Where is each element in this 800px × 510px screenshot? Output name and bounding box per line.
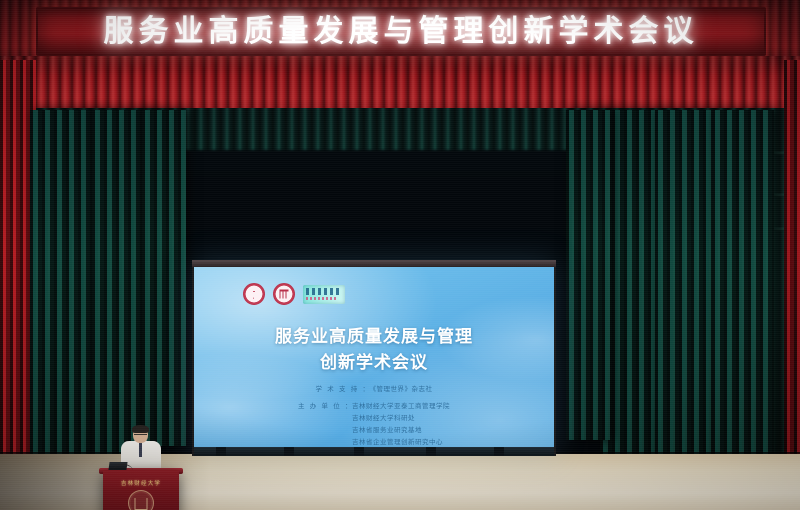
speaker-tie (139, 443, 142, 457)
academic-support-value: 《管理世界》杂志社 (370, 383, 433, 395)
speaker-glasses-icon (134, 434, 147, 437)
university-seal-1-icon (243, 283, 265, 305)
organizers-list: 吉林财经大学亚泰工商管理学院 吉林财经大学科研处 吉林省服务业研究基地 吉林省企… (352, 400, 450, 447)
podium-and-speaker: 吉林财经大学 (95, 424, 187, 510)
slide-logo-row (243, 283, 345, 305)
slide-credits: 学术支持： 《管理世界》杂志社 主办单位： 吉林财经大学亚泰工商管理学院 吉林财… (194, 383, 554, 447)
projection-screen: 服务业高质量发展与管理 创新学术会议 学术支持： 《管理世界》杂志社 主办单位：… (194, 267, 554, 447)
organizer-item: 吉林省企业管理创新研究中心 (352, 436, 450, 447)
green-curtain-leg-left-2 (92, 110, 148, 472)
conference-hall-photo: 服务业高质量发展与管理创新学术会议 服务业高质量发展与管理 创新学术会议 学术支… (0, 0, 800, 510)
organizer-item: 吉林财经大学科研处 (352, 412, 450, 424)
slide-title: 服务业高质量发展与管理 创新学术会议 (194, 325, 554, 376)
academic-support-label: 学术支持： (316, 383, 370, 395)
university-seal-2-icon (273, 283, 295, 305)
journal-wordmark-logo-icon (303, 285, 345, 304)
podium-label: 吉林财经大学 (103, 479, 179, 487)
academic-support-row: 学术支持： 《管理世界》杂志社 (194, 383, 554, 395)
organizers-row: 主办单位： 吉林财经大学亚泰工商管理学院 吉林财经大学科研处 吉林省服务业研究基… (194, 400, 554, 447)
green-curtain-leg-right-4 (566, 110, 610, 440)
slide-title-line-2: 创新学术会议 (194, 351, 554, 377)
conference-banner-text: 服务业高质量发展与管理创新学术会议 (104, 17, 699, 47)
organizer-item: 吉林省服务业研究基地 (352, 424, 450, 436)
screen-bottom-bezel (194, 447, 554, 456)
podium: 吉林财经大学 (103, 470, 179, 510)
green-curtain-leg-right-3 (712, 110, 774, 482)
slide-title-line-1: 服务业高质量发展与管理 (194, 325, 554, 351)
red-side-curtain-right (784, 60, 800, 460)
green-curtain-leg-right-2 (655, 110, 715, 472)
organizer-item: 吉林财经大学亚泰工商管理学院 (352, 400, 450, 412)
speaker-hair (132, 425, 149, 433)
screen-top-bezel (192, 260, 556, 267)
organizers-label: 主办单位： (298, 400, 352, 447)
conference-banner: 服务业高质量发展与管理创新学术会议 (36, 7, 766, 56)
university-emblem-icon (128, 490, 154, 510)
green-curtain-leg-left-1 (30, 110, 96, 480)
green-curtain-leg-left-3 (142, 110, 186, 446)
projection-screen-frame: 服务业高质量发展与管理 创新学术会议 学术支持： 《管理世界》杂志社 主办单位：… (192, 260, 556, 456)
